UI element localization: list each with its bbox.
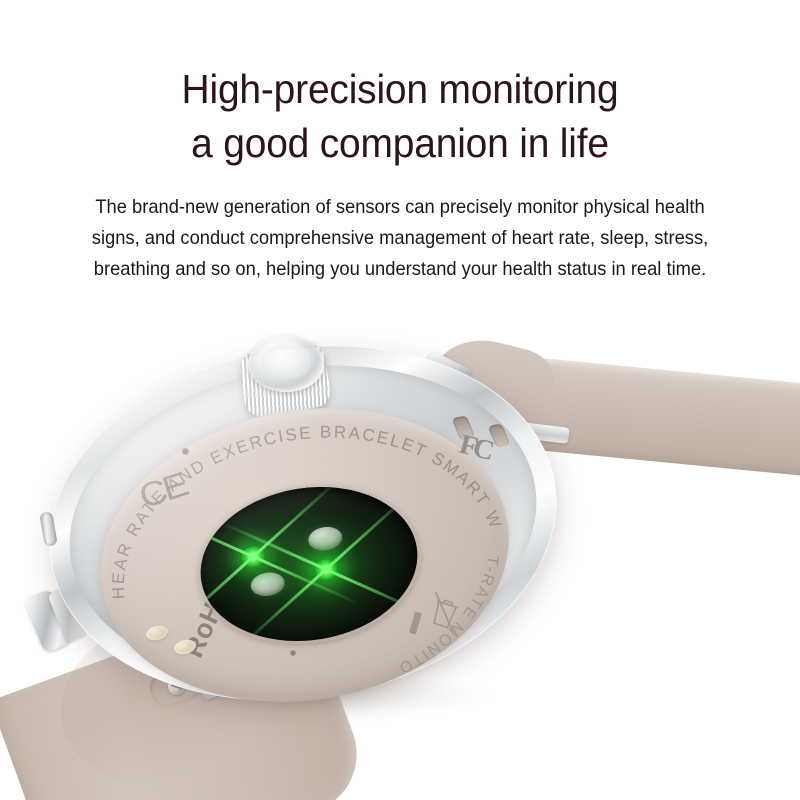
subcopy-line-3: breathing and so on, helping you underst… [71, 254, 729, 285]
pressure-vent-pinhole-icon [290, 650, 296, 656]
marketing-copy-block: High-precision monitoring a good compani… [0, 0, 800, 310]
product-marketing-banner: High-precision monitoring a good compani… [0, 0, 800, 800]
microphone-pinhole-icon [182, 448, 189, 455]
subtitle-paragraph: The brand-new generation of sensors can … [71, 192, 729, 285]
headline-line-2: a good companion in life [20, 116, 780, 170]
product-image-smartwatch: HEAR RATE AND EXERCISE BRACELET SMART WA… [0, 320, 800, 800]
subcopy-line-1: The brand-new generation of sensors can … [71, 192, 729, 223]
watch-crown-face [261, 345, 311, 379]
headline-line-1: High-precision monitoring [20, 62, 780, 116]
page-title: High-precision monitoring a good compani… [20, 62, 780, 170]
subcopy-line-2: signs, and conduct comprehensive managem… [71, 223, 729, 254]
